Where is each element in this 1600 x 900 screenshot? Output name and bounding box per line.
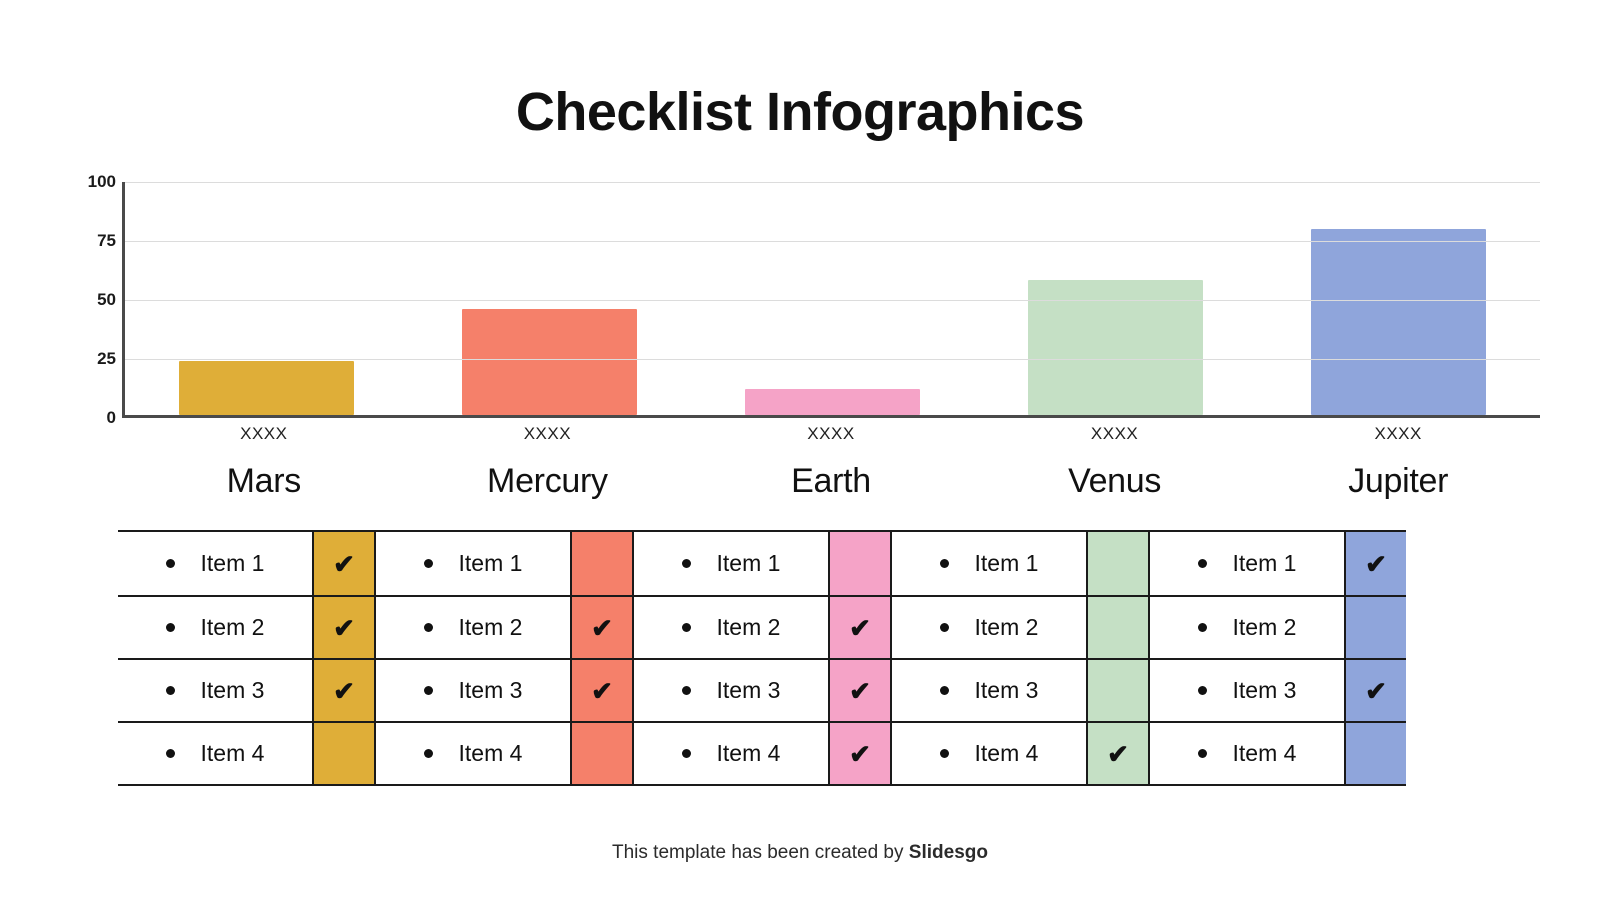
list-item-label: Item 4	[717, 740, 781, 767]
list-item: Item 3	[634, 660, 828, 721]
checklist-cell-mars-row-3: Item 3✔	[118, 660, 374, 721]
planet-label-earth: Earth	[689, 462, 973, 501]
list-item: Item 2	[376, 597, 570, 658]
checklist-cell-mercury-row-3: Item 3✔	[374, 660, 632, 721]
bullet-icon	[424, 749, 433, 758]
check-icon[interactable]: ✔	[828, 597, 890, 658]
list-item: Item 3	[1150, 660, 1344, 721]
list-item: Item 4	[634, 723, 828, 784]
checklist-cell-venus-row-2: Item 2	[890, 597, 1148, 658]
check-icon[interactable]: ✔	[312, 597, 374, 658]
y-axis-labels: 1007550250	[70, 182, 116, 418]
table-row: Item 3✔Item 3✔Item 3✔Item 3Item 3✔	[118, 658, 1406, 721]
checkbox-empty[interactable]	[1344, 597, 1406, 658]
bar-mars[interactable]	[179, 361, 354, 415]
bullet-icon	[682, 686, 691, 695]
list-item: Item 3	[892, 660, 1086, 721]
checklist-cell-jupiter-row-4: Item 4	[1148, 723, 1406, 784]
checklist-cell-mars-row-1: Item 1✔	[118, 532, 374, 595]
page-title: Checklist Infographics	[0, 82, 1600, 142]
bullet-icon	[682, 749, 691, 758]
y-axis-tick-75: 75	[97, 231, 116, 251]
bullet-icon	[682, 559, 691, 568]
bar-jupiter[interactable]	[1311, 229, 1486, 415]
list-item-label: Item 3	[975, 677, 1039, 704]
list-item-label: Item 2	[975, 614, 1039, 641]
bullet-icon	[166, 559, 175, 568]
checklist-cell-jupiter-row-1: Item 1✔	[1148, 532, 1406, 595]
list-item: Item 2	[634, 597, 828, 658]
list-item-label: Item 1	[459, 550, 523, 577]
bar-slot-venus	[974, 182, 1257, 415]
list-item-label: Item 3	[459, 677, 523, 704]
check-icon[interactable]: ✔	[1344, 532, 1406, 595]
list-item-label: Item 4	[201, 740, 265, 767]
planet-label-mars: Mars	[122, 462, 406, 501]
checklist-cell-mercury-row-2: Item 2✔	[374, 597, 632, 658]
bullet-icon	[940, 749, 949, 758]
list-item: Item 1	[376, 532, 570, 595]
list-item-label: Item 2	[717, 614, 781, 641]
check-icon[interactable]: ✔	[1086, 723, 1148, 784]
gridline-50	[125, 300, 1540, 301]
checklist-table: Item 1✔Item 1Item 1Item 1Item 1✔Item 2✔I…	[118, 530, 1406, 786]
planet-name-row: MarsMercuryEarthVenusJupiter	[122, 462, 1540, 501]
list-item: Item 4	[376, 723, 570, 784]
bar-chart: 1007550250 XXXXXXXXXXXXXXXXXXXX	[70, 182, 1540, 444]
checklist-cell-mercury-row-4: Item 4	[374, 723, 632, 784]
checklist-cell-mercury-row-1: Item 1	[374, 532, 632, 595]
checklist-cell-venus-row-3: Item 3	[890, 660, 1148, 721]
planet-label-jupiter: Jupiter	[1256, 462, 1540, 501]
bullet-icon	[424, 623, 433, 632]
footer-credit: This template has been created by Slides…	[0, 842, 1600, 864]
table-row: Item 2✔Item 2✔Item 2✔Item 2Item 2	[118, 595, 1406, 658]
y-axis-tick-100: 100	[88, 172, 116, 192]
x-axis-tick-label-2: XXXX	[689, 424, 973, 444]
check-icon[interactable]: ✔	[828, 660, 890, 721]
list-item-label: Item 3	[717, 677, 781, 704]
planet-label-venus: Venus	[973, 462, 1257, 501]
y-axis-tick-50: 50	[97, 290, 116, 310]
planet-label-mercury: Mercury	[406, 462, 690, 501]
checklist-cell-venus-row-1: Item 1	[890, 532, 1148, 595]
checklist-cell-earth-row-3: Item 3✔	[632, 660, 890, 721]
bullet-icon	[424, 686, 433, 695]
check-icon[interactable]: ✔	[312, 660, 374, 721]
check-icon[interactable]: ✔	[1344, 660, 1406, 721]
checklist-cell-mars-row-2: Item 2✔	[118, 597, 374, 658]
list-item: Item 2	[118, 597, 312, 658]
bullet-icon	[1198, 749, 1207, 758]
list-item: Item 4	[1150, 723, 1344, 784]
checklist-cell-venus-row-4: Item 4✔	[890, 723, 1148, 784]
checklist-cell-earth-row-1: Item 1	[632, 532, 890, 595]
list-item: Item 4	[118, 723, 312, 784]
list-item-label: Item 3	[1233, 677, 1297, 704]
list-item: Item 1	[1150, 532, 1344, 595]
checklist-cell-earth-row-4: Item 4✔	[632, 723, 890, 784]
list-item-label: Item 4	[975, 740, 1039, 767]
checklist-cell-earth-row-2: Item 2✔	[632, 597, 890, 658]
list-item-label: Item 1	[975, 550, 1039, 577]
list-item-label: Item 1	[717, 550, 781, 577]
list-item-label: Item 2	[201, 614, 265, 641]
check-icon[interactable]: ✔	[828, 723, 890, 784]
list-item-label: Item 2	[1233, 614, 1297, 641]
bullet-icon	[940, 623, 949, 632]
x-axis-tick-labels: XXXXXXXXXXXXXXXXXXXX	[122, 424, 1540, 444]
bar-slot-mercury	[408, 182, 691, 415]
checkbox-empty[interactable]	[828, 532, 890, 595]
bar-slot-earth	[691, 182, 974, 415]
check-icon[interactable]: ✔	[312, 532, 374, 595]
checkbox-empty[interactable]	[312, 723, 374, 784]
checklist-cell-jupiter-row-2: Item 2	[1148, 597, 1406, 658]
checkbox-empty[interactable]	[1086, 532, 1148, 595]
checkbox-empty[interactable]	[1344, 723, 1406, 784]
checkbox-empty[interactable]	[1086, 660, 1148, 721]
list-item: Item 4	[892, 723, 1086, 784]
check-icon[interactable]: ✔	[570, 597, 632, 658]
bullet-icon	[166, 749, 175, 758]
chart-bars	[125, 182, 1540, 415]
bullet-icon	[1198, 686, 1207, 695]
table-row: Item 4Item 4Item 4✔Item 4✔Item 4	[118, 721, 1406, 784]
list-item: Item 1	[118, 532, 312, 595]
bullet-icon	[166, 623, 175, 632]
checkbox-empty[interactable]	[1086, 597, 1148, 658]
list-item-label: Item 2	[459, 614, 523, 641]
y-axis-tick-25: 25	[97, 349, 116, 369]
chart-plot-area	[122, 182, 1540, 418]
list-item: Item 2	[892, 597, 1086, 658]
table-row: Item 1✔Item 1Item 1Item 1Item 1✔	[118, 532, 1406, 595]
bullet-icon	[940, 686, 949, 695]
list-item: Item 1	[634, 532, 828, 595]
footer-text: This template has been created by	[612, 842, 909, 863]
footer-brand: Slidesgo	[909, 842, 988, 863]
list-item: Item 3	[376, 660, 570, 721]
bar-earth[interactable]	[745, 389, 920, 415]
list-item-label: Item 1	[201, 550, 265, 577]
x-axis-tick-label-4: XXXX	[1256, 424, 1540, 444]
bullet-icon	[940, 559, 949, 568]
checkbox-empty[interactable]	[570, 532, 632, 595]
list-item-label: Item 1	[1233, 550, 1297, 577]
bullet-icon	[1198, 623, 1207, 632]
slide-canvas: Checklist Infographics 1007550250 XXXXXX…	[0, 0, 1600, 900]
bullet-icon	[166, 686, 175, 695]
list-item-label: Item 4	[459, 740, 523, 767]
x-axis-tick-label-3: XXXX	[973, 424, 1257, 444]
list-item-label: Item 3	[201, 677, 265, 704]
list-item: Item 3	[118, 660, 312, 721]
list-item: Item 2	[1150, 597, 1344, 658]
bar-slot-mars	[125, 182, 408, 415]
gridline-100	[125, 182, 1540, 183]
checklist-cell-mars-row-4: Item 4	[118, 723, 374, 784]
list-item: Item 1	[892, 532, 1086, 595]
bar-slot-jupiter	[1257, 182, 1540, 415]
list-item-label: Item 4	[1233, 740, 1297, 767]
x-axis-tick-label-0: XXXX	[122, 424, 406, 444]
gridline-25	[125, 359, 1540, 360]
y-axis-tick-0: 0	[107, 408, 116, 428]
bar-mercury[interactable]	[462, 309, 637, 415]
bullet-icon	[1198, 559, 1207, 568]
gridline-75	[125, 241, 1540, 242]
checklist-cell-jupiter-row-3: Item 3✔	[1148, 660, 1406, 721]
check-icon[interactable]: ✔	[570, 660, 632, 721]
x-axis-tick-label-1: XXXX	[406, 424, 690, 444]
checkbox-empty[interactable]	[570, 723, 632, 784]
bullet-icon	[682, 623, 691, 632]
bullet-icon	[424, 559, 433, 568]
